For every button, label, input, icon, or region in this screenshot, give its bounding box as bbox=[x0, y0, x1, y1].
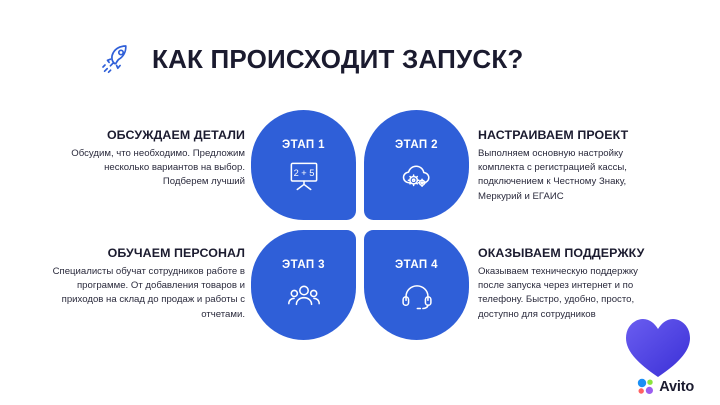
step-badge-4: ЭТАП 4 bbox=[395, 259, 438, 271]
heart-icon bbox=[624, 317, 692, 379]
step-text-4: ОКАЗЫВАЕМ ПОДДЕРЖКУ Оказываем техническу… bbox=[478, 246, 663, 322]
step-badge-2: ЭТАП 2 bbox=[395, 139, 438, 151]
step-badge-3: ЭТАП 3 bbox=[282, 259, 325, 271]
page-title: КАК ПРОИСХОДИТ ЗАПУСК? bbox=[152, 44, 524, 75]
step-body-1: Обсудим, что необходимо. Предложим неско… bbox=[60, 147, 245, 190]
step-petal-3[interactable]: ЭТАП 3 bbox=[251, 230, 356, 340]
step-heading-3: ОБУЧАЕМ ПЕРСОНАЛ bbox=[48, 246, 245, 260]
step-heading-2: НАСТРАИВАЕМ ПРОЕКТ bbox=[478, 128, 663, 142]
step-petal-1[interactable]: ЭТАП 1 2 + 5 bbox=[251, 110, 356, 220]
step-text-2: НАСТРАИВАЕМ ПРОЕКТ Выполняем основную на… bbox=[478, 128, 663, 204]
people-group-icon bbox=[285, 280, 323, 312]
avito-wordmark: Avito bbox=[659, 379, 694, 395]
step-heading-4: ОКАЗЫВАЕМ ПОДДЕРЖКУ bbox=[478, 246, 663, 260]
step-body-2: Выполняем основную настройку комплекта с… bbox=[478, 147, 663, 204]
rocket-icon bbox=[100, 42, 134, 76]
avito-watermark: Avito bbox=[637, 378, 694, 395]
slide-canvas: КАК ПРОИСХОДИТ ЗАПУСК? ЭТАП 1 2 + 5 ЭТАП… bbox=[0, 0, 720, 405]
step-badge-1: ЭТАП 1 bbox=[282, 139, 325, 151]
step-body-4: Оказываем техническую поддержку после за… bbox=[478, 265, 663, 322]
svg-text:2 + 5: 2 + 5 bbox=[293, 168, 314, 178]
cloud-gears-icon bbox=[398, 160, 436, 192]
step-body-3: Специалисты обучат сотрудников работе в … bbox=[48, 265, 245, 322]
easel-board-icon: 2 + 5 bbox=[285, 160, 323, 192]
headset-support-icon bbox=[398, 280, 436, 312]
step-petal-2[interactable]: ЭТАП 2 bbox=[364, 110, 469, 220]
step-heading-1: ОБСУЖДАЕМ ДЕТАЛИ bbox=[60, 128, 245, 142]
steps-diagram: ЭТАП 1 2 + 5 ЭТАП 2 bbox=[251, 110, 469, 340]
slide-header: КАК ПРОИСХОДИТ ЗАПУСК? bbox=[100, 42, 524, 76]
step-text-3: ОБУЧАЕМ ПЕРСОНАЛ Специалисты обучат сотр… bbox=[48, 246, 245, 322]
step-petal-4[interactable]: ЭТАП 4 bbox=[364, 230, 469, 340]
step-text-1: ОБСУЖДАЕМ ДЕТАЛИ Обсудим, что необходимо… bbox=[60, 128, 245, 190]
avito-dots-icon bbox=[637, 378, 654, 395]
